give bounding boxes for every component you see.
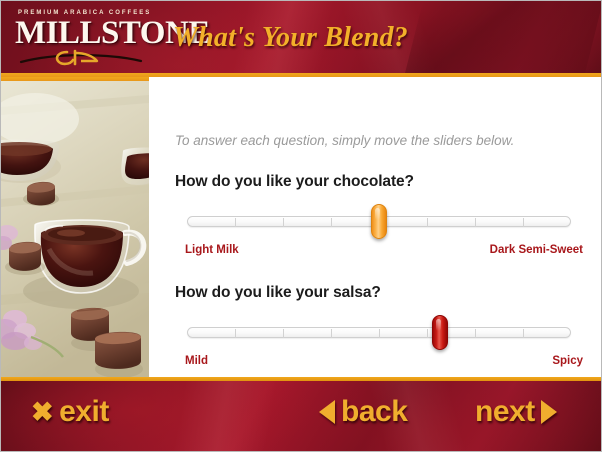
back-button[interactable]: back [319, 395, 407, 429]
slider-tick [283, 218, 284, 227]
header-decorative-panel [405, 1, 602, 73]
close-x-icon: ✖ [31, 397, 53, 427]
slider-thumb-salsa[interactable] [432, 315, 448, 350]
slider-tick [523, 218, 524, 227]
slider-labels: Mild Spicy [175, 355, 583, 371]
question-block-salsa: How do you like your salsa? Mild Spicy [175, 284, 583, 371]
slider-tick [283, 329, 284, 338]
slider-labels: Light Milk Dark Semi-Sweet [175, 244, 583, 260]
logo-wordmark: MILLSTONE [15, 17, 147, 50]
logo-swirl-icon [15, 49, 147, 67]
exit-button[interactable]: ✖ exit [31, 395, 109, 429]
slider-tick [475, 218, 476, 227]
slider-salsa[interactable] [175, 318, 583, 352]
next-button[interactable]: next [475, 395, 557, 429]
page-footer: ✖ exit back next [1, 381, 602, 452]
question-title: How do you like your salsa? [175, 284, 583, 302]
millstone-quiz-app: PREMIUM ARABICA COFFEES MILLSTONE What's… [0, 0, 602, 452]
slider-tick [379, 329, 380, 338]
slider-label-min: Mild [185, 355, 208, 367]
page-header: PREMIUM ARABICA COFFEES MILLSTONE What's… [1, 1, 602, 77]
slider-tick [235, 218, 236, 227]
question-title: How do you like your chocolate? [175, 173, 583, 191]
instructions-text: To answer each question, simply move the… [175, 133, 514, 148]
slider-tick [523, 329, 524, 338]
exit-button-label: exit [59, 395, 109, 429]
triangle-left-icon [319, 400, 335, 424]
slider-label-max: Dark Semi-Sweet [490, 244, 583, 256]
slider-tick [331, 329, 332, 338]
next-button-label: next [475, 395, 535, 429]
slider-tick [475, 329, 476, 338]
page-title: What's Your Blend? [173, 22, 408, 54]
quiz-content-panel: To answer each question, simply move the… [149, 81, 602, 377]
slider-label-max: Spicy [552, 355, 583, 367]
slider-track[interactable] [187, 327, 571, 338]
slider-tick [331, 218, 332, 227]
photo-top-divider [1, 77, 149, 81]
slider-tick [427, 329, 428, 338]
millstone-logo: PREMIUM ARABICA COFFEES MILLSTONE [15, 10, 147, 70]
slider-label-min: Light Milk [185, 244, 239, 256]
slider-tick [427, 218, 428, 227]
question-block-chocolate: How do you like your chocolate? Light Mi… [175, 173, 583, 260]
slider-tick [235, 329, 236, 338]
coffee-chocolate-photo [1, 81, 149, 377]
slider-chocolate[interactable] [175, 207, 583, 241]
triangle-right-icon [541, 400, 557, 424]
slider-thumb-chocolate[interactable] [371, 204, 387, 239]
back-button-label: back [341, 395, 407, 429]
